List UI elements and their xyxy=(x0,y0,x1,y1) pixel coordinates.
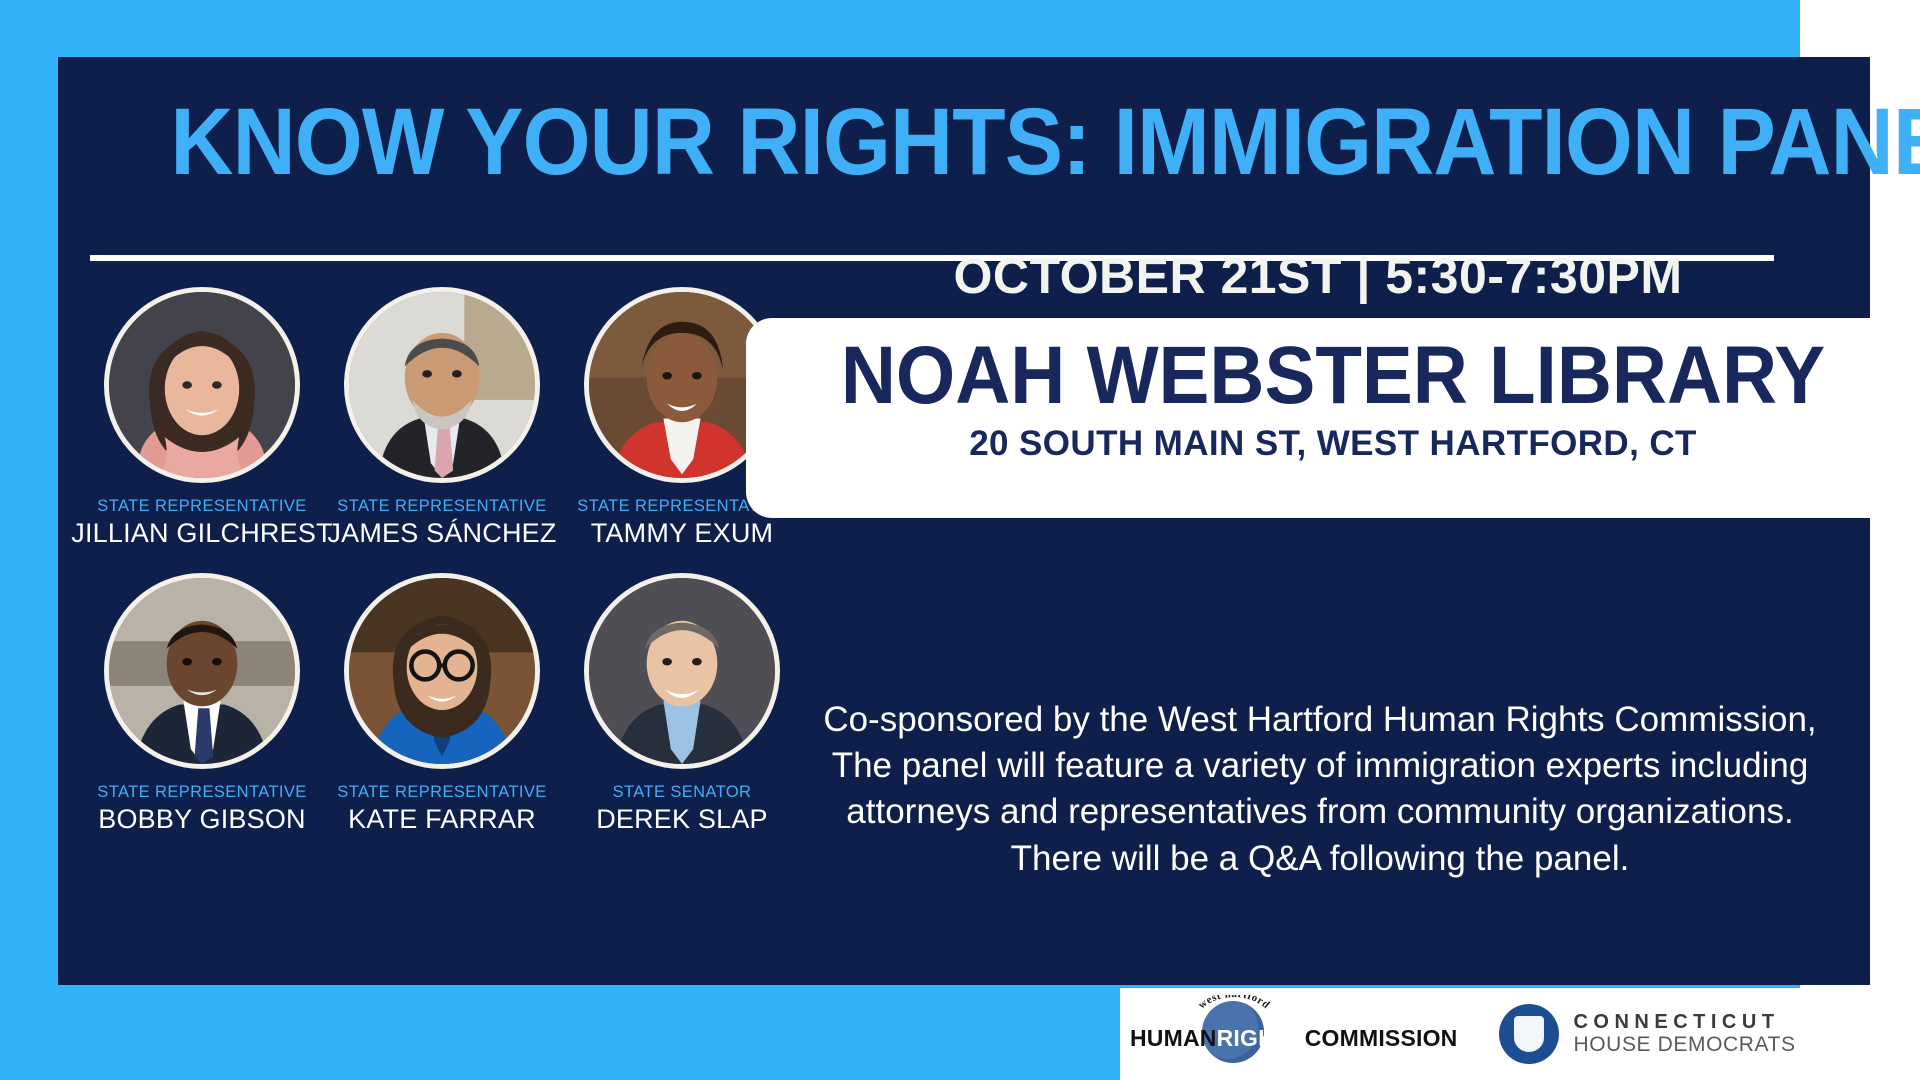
page-title: KNOW YOUR RIGHTS: IMMIGRATION PANEL xyxy=(170,95,1697,190)
speaker-name: BOBBY GIBSON xyxy=(98,804,305,835)
chd-wordmark: CONNECTICUT HOUSE DEMOCRATS xyxy=(1573,1011,1795,1057)
flyer-panel: KNOW YOUR RIGHTS: IMMIGRATION PANEL xyxy=(58,57,1870,985)
speakers-row-2: STATE REPRESENTATIVE BOBBY GIBSON xyxy=(82,573,802,835)
speaker-role: STATE REPRESENTATIVE xyxy=(337,783,546,802)
whrc-word-commission: COMMISSION xyxy=(1305,1025,1458,1051)
portrait-jillian-gilchrest xyxy=(109,292,295,478)
venue-name: NOAH WEBSTER LIBRARY xyxy=(787,334,1879,418)
speaker-card: STATE REPRESENTATIVE BOBBY GIBSON xyxy=(82,573,322,835)
speaker-role: STATE REPRESENTATIVE xyxy=(337,497,546,516)
speakers-row-1: STATE REPRESENTATIVE JILLIAN GILCHREST xyxy=(82,287,802,549)
left-blue-margin xyxy=(0,0,58,1080)
event-datetime: OCTOBER 21ST | 5:30-7:30PM xyxy=(818,247,1818,305)
speaker-card: STATE REPRESENTATIVE KATE FARRAR xyxy=(322,573,562,835)
avatar xyxy=(584,573,780,769)
state-seal-icon xyxy=(1499,1004,1559,1064)
speaker-name: TAMMY EXUM xyxy=(591,518,774,549)
whrc-wordmark: HUMANRIGHTSCOMMISSION xyxy=(1130,1017,1457,1052)
whrc-word-rights: RIGHTS xyxy=(1217,1025,1305,1051)
avatar xyxy=(344,573,540,769)
chd-line-house-democrats: HOUSE DEMOCRATS xyxy=(1573,1033,1795,1057)
portrait-james-sanchez xyxy=(349,292,535,478)
portrait-derek-slap xyxy=(589,578,775,764)
speaker-role: STATE SENATOR xyxy=(613,783,752,802)
speaker-card: STATE REPRESENTATIVE JAMES SÁNCHEZ xyxy=(322,287,562,549)
speaker-name: KATE FARRAR xyxy=(348,804,536,835)
whrc-word-human: HUMAN xyxy=(1130,1025,1217,1051)
speaker-role: STATE REPRESENTATIVE xyxy=(97,783,306,802)
speaker-card: STATE SENATOR DEREK SLAP xyxy=(562,573,802,835)
venue-address: 20 SOUTH MAIN ST, WEST HARTFORD, CT xyxy=(746,424,1920,464)
avatar xyxy=(104,287,300,483)
speaker-name: DEREK SLAP xyxy=(596,804,768,835)
connecticut-house-democrats-logo: CONNECTICUT HOUSE DEMOCRATS xyxy=(1499,1004,1795,1064)
speaker-card: STATE REPRESENTATIVE JILLIAN GILCHREST xyxy=(82,287,322,549)
portrait-bobby-gibson xyxy=(109,578,295,764)
portrait-kate-farrar xyxy=(349,578,535,764)
speakers-grid: STATE REPRESENTATIVE JILLIAN GILCHREST xyxy=(82,287,802,835)
avatar xyxy=(344,287,540,483)
sponsor-logos: west hartford HUMANRIGHTSCOMMISSION CONN… xyxy=(1120,988,1920,1080)
chd-line-connecticut: CONNECTICUT xyxy=(1573,1011,1795,1033)
speaker-name: JAMES SÁNCHEZ xyxy=(327,518,556,549)
west-hartford-human-rights-commission-logo: west hartford HUMANRIGHTSCOMMISSION xyxy=(1130,995,1457,1073)
avatar xyxy=(104,573,300,769)
venue-callout: NOAH WEBSTER LIBRARY 20 SOUTH MAIN ST, W… xyxy=(746,318,1920,518)
speaker-name: JILLIAN GILCHREST xyxy=(71,518,332,549)
event-description: Co-sponsored by the West Hartford Human … xyxy=(810,697,1830,882)
speaker-role: STATE REPRESENTATIVE xyxy=(97,497,306,516)
